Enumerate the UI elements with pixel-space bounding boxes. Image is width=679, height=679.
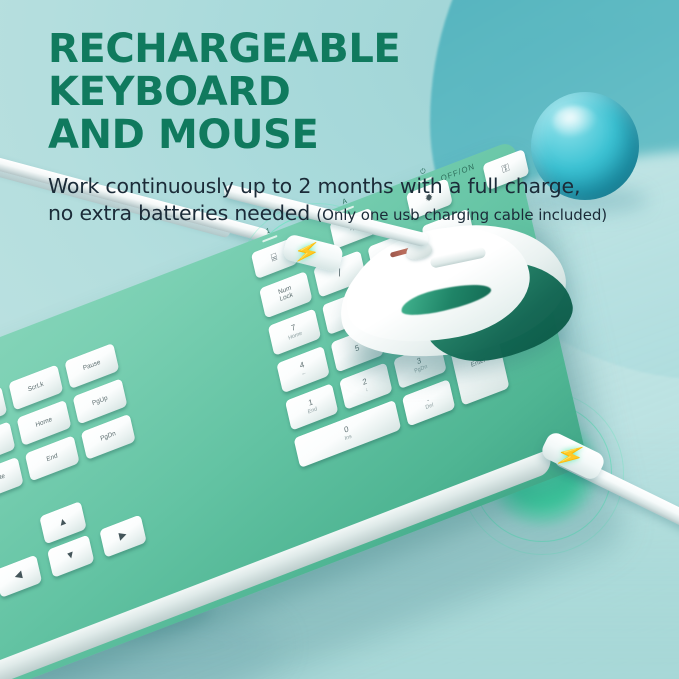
lightning-bolt-icon: ⚡ <box>292 239 322 266</box>
headline-line-2: AND MOUSE <box>48 114 648 157</box>
page-title: RECHARGEABLE KEYBOARD AND MOUSE <box>48 28 648 158</box>
key-pgdn[interactable]: PgDn <box>81 414 136 460</box>
headline-line-1: RECHARGEABLE KEYBOARD <box>48 26 400 115</box>
subheadline-line-1: Work continuously up to 2 months with a … <box>48 174 580 198</box>
key-end[interactable]: End <box>25 435 80 481</box>
key-numpad-decimal[interactable]: .Del <box>402 379 455 426</box>
rechargeable-wireless-mouse[interactable]: ⚡ <box>330 222 580 382</box>
key-arrow-left[interactable]: ◀ <box>0 555 42 598</box>
subheadline-line-2: no extra batteries needed <box>48 201 310 225</box>
subheadline-note: (Only one usb charging cable included) <box>316 206 607 224</box>
key-delete[interactable]: Delete <box>0 457 24 503</box>
headline-block: RECHARGEABLE KEYBOARD AND MOUSE Work con… <box>48 28 648 228</box>
product-banner: RECHARGEABLE KEYBOARD AND MOUSE Work con… <box>0 0 679 679</box>
key-arrow-right[interactable]: ▶ <box>99 514 146 557</box>
subheadline: Work continuously up to 2 months with a … <box>48 173 648 229</box>
